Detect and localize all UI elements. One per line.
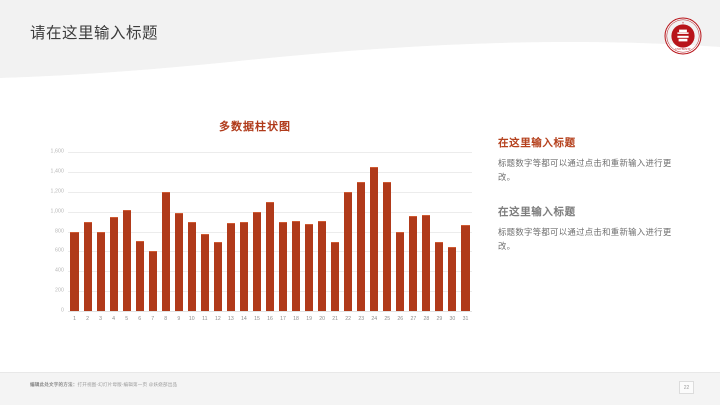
chart-bar: [279, 222, 287, 311]
chart-bar: [110, 217, 118, 311]
bar-chart: 多数据柱状图 02004006008001,0001,2001,4001,600…: [30, 118, 480, 333]
block-body: 标题数字等都可以通过点击和重新输入进行更改。: [498, 157, 674, 185]
x-axis-tick-label: 21: [329, 317, 342, 322]
block-heading: 在这里输入标题: [498, 135, 683, 150]
x-axis-tick-label: 12: [211, 317, 224, 322]
y-axis-tick-label: 800: [30, 229, 64, 234]
chart-bar: [409, 216, 417, 311]
x-axis-tick-label: 27: [407, 317, 420, 322]
page-number-badge: 22: [679, 381, 694, 394]
chart-bar: [344, 192, 352, 311]
x-axis-tick-label: 10: [185, 317, 198, 322]
chart-bar: [461, 225, 469, 311]
x-axis-tick-label: 16: [263, 317, 276, 322]
chart-bar: [227, 223, 235, 311]
chart-bar: [266, 202, 274, 311]
chart-bar: [70, 232, 78, 312]
x-axis-tick-label: 19: [303, 317, 316, 322]
x-axis-tick-label: 11: [198, 317, 211, 322]
chart-bar: [240, 222, 248, 311]
chart-bar: [201, 234, 209, 312]
x-axis-tick-label: 25: [381, 317, 394, 322]
footer-text: 编辑此处文字的方法：打开视图-幻灯片母版-编辑第一页 @妖娆部出品: [30, 382, 177, 388]
y-axis-tick-label: 400: [30, 269, 64, 274]
x-axis-tick-label: 6: [133, 317, 146, 322]
x-axis-tick-label: 20: [316, 317, 329, 322]
chart-bar: [162, 192, 170, 311]
chart-bar: [318, 221, 326, 311]
x-axis-tick-label: 24: [368, 317, 381, 322]
x-axis-tick-label: 17: [277, 317, 290, 322]
chart-bar: [123, 210, 131, 311]
block-body: 标题数字等都可以通过点击和重新输入进行更改。: [498, 226, 674, 254]
x-axis-tick-label: 7: [146, 317, 159, 322]
x-axis-tick-label: 22: [342, 317, 355, 322]
x-axis-tick-label: 18: [290, 317, 303, 322]
chart-bar: [396, 232, 404, 312]
chart-gridline: [68, 172, 472, 173]
page-title: 请在这里输入标题: [30, 21, 158, 43]
chart-bar: [383, 182, 391, 311]
chart-bar: [292, 221, 300, 311]
chart-bar: [188, 222, 196, 311]
chart-bar: [357, 182, 365, 311]
footer-label: 编辑此处文字的方法：: [30, 382, 77, 387]
x-axis-tick-label: 9: [172, 317, 185, 322]
x-axis-tick-label: 28: [420, 317, 433, 322]
text-panel: 在这里输入标题 标题数字等都可以通过点击和重新输入进行更改。 在这里输入标题 标…: [498, 135, 683, 272]
x-axis-tick-label: 14: [237, 317, 250, 322]
y-axis-tick-label: 1,400: [30, 169, 64, 174]
x-axis-tick-label: 26: [394, 317, 407, 322]
y-axis-tick-label: 0: [30, 308, 64, 313]
svg-text:UNIVERSITY: UNIVERSITY: [675, 48, 691, 51]
text-block: 在这里输入标题 标题数字等都可以通过点击和重新输入进行更改。: [498, 135, 683, 185]
chart-bar: [214, 242, 222, 311]
y-axis-tick-label: 1,000: [30, 209, 64, 214]
chart-bar: [422, 215, 430, 311]
x-axis-line: [68, 311, 472, 312]
chart-gridline: [68, 192, 472, 193]
chart-plot-area: 02004006008001,0001,2001,4001,6001234567…: [30, 146, 480, 333]
footer-band: [0, 373, 720, 405]
chart-gridline: [68, 152, 472, 153]
y-axis-tick-label: 1,200: [30, 189, 64, 194]
x-axis-tick-label: 13: [224, 317, 237, 322]
x-axis-tick-label: 15: [250, 317, 263, 322]
chart-title: 多数据柱状图: [30, 118, 480, 134]
y-axis-tick-label: 200: [30, 289, 64, 294]
x-axis-tick-label: 5: [120, 317, 133, 322]
chart-bar: [97, 232, 105, 312]
footer-instructions: 打开视图-幻灯片母版-编辑第一页 @妖娆部出品: [77, 382, 177, 387]
chart-bar: [84, 222, 92, 311]
chart-bar: [136, 241, 144, 311]
x-axis-tick-label: 30: [446, 317, 459, 322]
chart-bar: [305, 224, 313, 311]
chart-bar: [253, 212, 261, 311]
chart-bar: [175, 213, 183, 311]
x-axis-tick-label: 23: [355, 317, 368, 322]
x-axis-tick-label: 8: [159, 317, 172, 322]
text-block: 在这里输入标题 标题数字等都可以通过点击和重新输入进行更改。: [498, 204, 683, 254]
x-axis-tick-label: 29: [433, 317, 446, 322]
y-axis-tick-label: 1,600: [30, 149, 64, 154]
x-axis-tick-label: 4: [107, 317, 120, 322]
x-axis-tick-label: 31: [459, 317, 472, 322]
university-seal-logo: UNIVERSITY: [664, 17, 702, 55]
x-axis-tick-label: 3: [94, 317, 107, 322]
chart-bar: [370, 167, 378, 311]
chart-bar: [331, 242, 339, 311]
slide-canvas: 请在这里输入标题 UNIVERSITY 多数据柱状图 0200400600800…: [0, 0, 720, 405]
chart-bar: [149, 251, 157, 311]
block-heading: 在这里输入标题: [498, 204, 683, 219]
x-axis-tick-label: 2: [81, 317, 94, 322]
chart-bar: [448, 247, 456, 311]
y-axis-tick-label: 600: [30, 249, 64, 254]
x-axis-tick-label: 1: [68, 317, 81, 322]
chart-bar: [435, 242, 443, 311]
